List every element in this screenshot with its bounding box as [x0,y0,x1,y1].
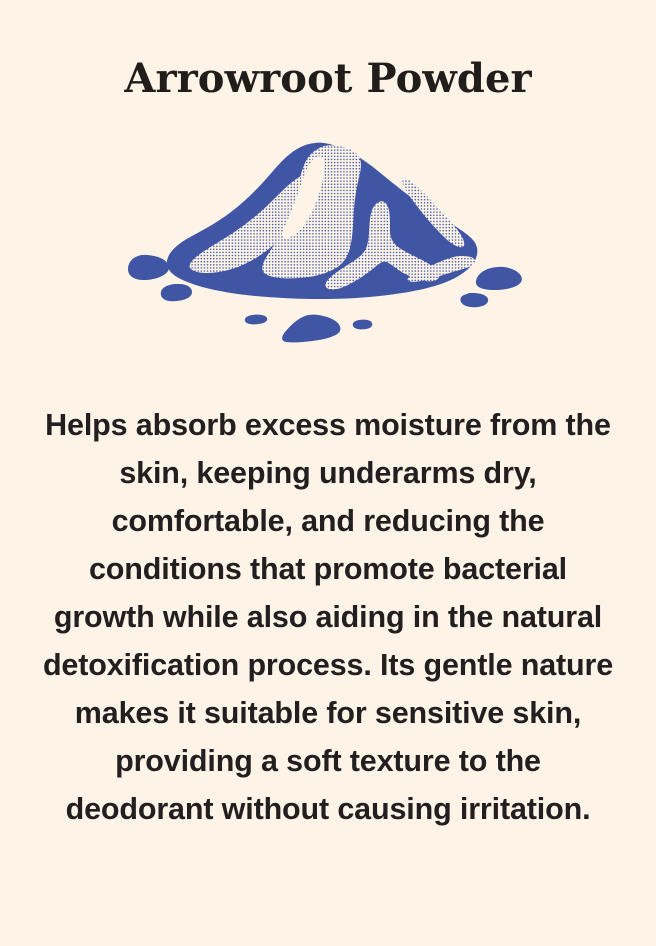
granule-bottom-left-fleck [245,315,267,325]
page-title: Arrowroot Powder [124,0,531,101]
granule-left-small [161,284,192,301]
ingredient-description: Helps absorb excess moisture from the sk… [0,401,656,833]
granule-right-small [460,293,488,307]
illustration-container [0,125,656,360]
granule-bottom-right-fleck [353,320,373,330]
granule-left-large [128,255,169,280]
granule-bottom-center [282,315,340,343]
arrowroot-powder-mound-illustration [113,130,543,355]
ingredient-card: Arrowroot Powder [0,0,656,946]
granule-right-large [476,267,522,290]
